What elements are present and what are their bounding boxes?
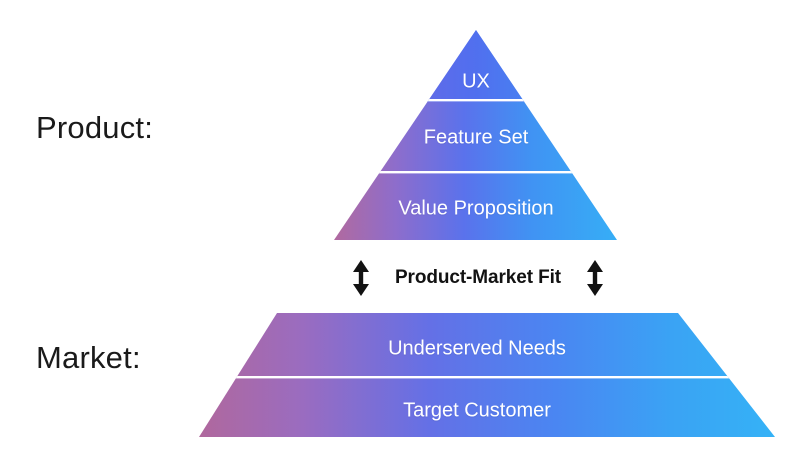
divider-ux-feature <box>330 99 622 101</box>
double-arrow-vertical-icon <box>350 259 372 297</box>
layer-label-value-proposition: Value Proposition <box>398 198 553 221</box>
layer-label-underserved-needs: Underserved Needs <box>388 338 566 361</box>
layer-label-target-customer: Target Customer <box>403 400 551 423</box>
double-arrow-vertical-icon <box>584 259 606 297</box>
diagram-canvas: Product: Market: <box>0 0 800 475</box>
divider-needs-target <box>190 376 790 378</box>
layer-label-ux: UX <box>462 71 490 94</box>
pyramid-shapes <box>0 0 800 475</box>
layer-label-feature-set: Feature Set <box>424 127 529 150</box>
product-market-fit-row: Product-Market Fit <box>350 258 606 298</box>
product-market-fit-label: Product-Market Fit <box>395 267 561 289</box>
market-dividers <box>190 376 790 378</box>
divider-feature-value <box>330 171 622 173</box>
